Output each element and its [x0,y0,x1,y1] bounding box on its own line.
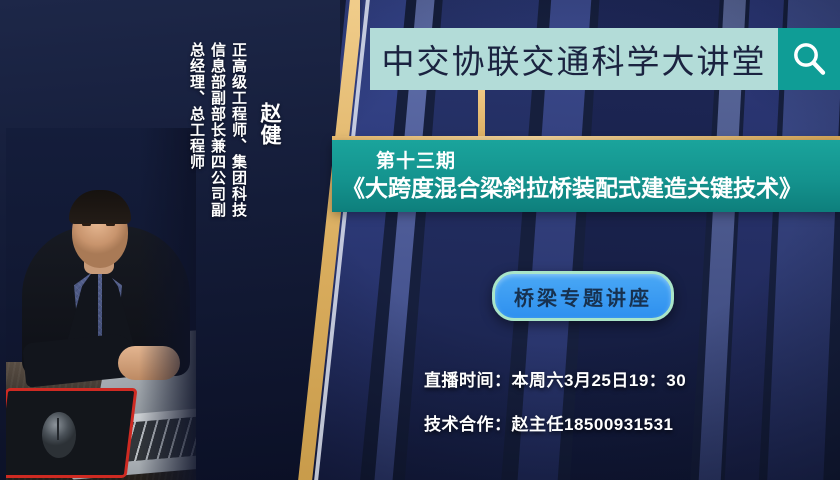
session-banner: 第十三期 《大跨度混合梁斜拉桥装配式建造关键技术》 [332,140,840,212]
topic-badge[interactable]: 桥梁专题讲座 [492,271,674,321]
topic-badge-label: 桥梁专题讲座 [514,282,652,311]
page-title: 中交协联交通科学大讲堂 [370,28,778,90]
title-bar: 中交协联交通科学大讲堂 [370,28,840,90]
speaker-credentials: 赵健 正高级工程师、集团科技 信息部副部长兼四公司副 总经理、总工程师 [186,16,289,218]
speaker-title-line-2: 信息部副部长兼四公司副 [207,42,228,218]
contact-info: 技术合作：赵主任18500931531 [424,410,674,435]
session-subtitle: 《大跨度混合梁斜拉桥装配式建造关键技术》 [332,174,840,203]
search-button[interactable] [778,28,840,90]
gold-connector-stem [478,90,485,140]
webinar-poster: 赵健 正高级工程师、集团科技 信息部副部长兼四公司副 总经理、总工程师 中交协联… [0,0,840,480]
speaker-title-line-1: 正高级工程师、集团科技 [228,42,249,218]
session-issue: 第十三期 [332,150,840,174]
broadcast-time: 直播时间：本周六3月25日19：30 [424,366,686,391]
speaker-name: 赵健 [249,102,289,146]
speaker-title-line-3: 总经理、总工程师 [186,42,207,170]
page-title-text: 中交协联交通科学大讲堂 [382,35,767,83]
search-icon [789,39,829,79]
speaker-photo [6,128,196,480]
